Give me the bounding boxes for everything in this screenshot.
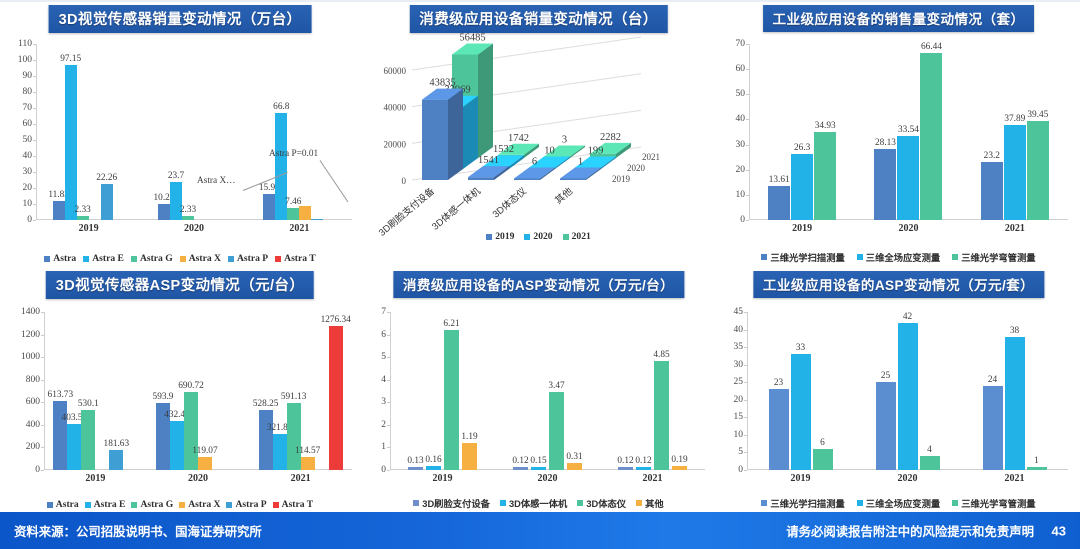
x-axis-label: 2021: [291, 473, 311, 484]
bar-group: 28.1333.5466.442020: [855, 44, 961, 220]
bar-value-label: 24: [988, 375, 997, 385]
svg-text:2282: 2282: [600, 132, 621, 143]
bar-group: 593.9432.43690.72119.072020: [147, 312, 250, 470]
legend-swatch-icon: [577, 500, 583, 506]
y-tick-label: 5: [381, 352, 386, 362]
y-tick-mark: [41, 470, 44, 471]
bar-group: 23.237.8939.452021: [962, 44, 1068, 220]
bar[interactable]: 591.13: [287, 403, 301, 470]
bar[interactable]: 33.54: [897, 136, 919, 220]
legend-industrial-volume: 三维光学扫描测量三维全场应变测量三维光学弯管测量: [717, 250, 1080, 264]
bar-group: 10.2823.72.332020: [141, 44, 246, 220]
y-tick-label: 2: [381, 420, 386, 430]
x-axis-label: 2019: [79, 223, 99, 234]
bar[interactable]: 432.43: [170, 421, 184, 470]
bar[interactable]: 0.19: [672, 466, 687, 470]
bar-value-label: 4: [927, 445, 932, 455]
y-tick-mark: [387, 470, 390, 471]
chart-title-sensor-asp: 3D视觉传感器ASP变动情况（元/台）: [46, 271, 314, 299]
bar[interactable]: 613.73: [53, 401, 67, 470]
legend-item[interactable]: 2020: [524, 231, 552, 242]
bar[interactable]: 2.33: [77, 216, 89, 220]
bar[interactable]: 321.81: [273, 434, 287, 470]
svg-text:1742: 1742: [508, 133, 529, 144]
chart-title-industrial-asp: 工业级应用设备的ASP变动情况（万元/套）: [753, 271, 1044, 298]
y-tick-mark: [746, 220, 749, 221]
legend-item[interactable]: 三维光学弯管测量: [952, 496, 1035, 510]
bar-value-label: 0.16: [425, 455, 441, 465]
bar[interactable]: 34.93: [814, 132, 836, 220]
panel-sensor-volume: 3D视觉传感器销量变动情况（万台） 0102030405060708090100…: [0, 0, 360, 266]
y-tick-label: 800: [26, 375, 40, 385]
bar-groups: 0.130.166.211.1920190.120.153.470.312020…: [390, 312, 705, 470]
y-tick-mark: [744, 470, 747, 471]
x-axis-label: 2021: [289, 223, 309, 234]
bar-value-label: 690.72: [178, 381, 204, 391]
chart-consumer-asp: 01234567 0.130.166.211.1920190.120.153.4…: [360, 296, 717, 512]
bar-value-label: 2.33: [75, 205, 91, 215]
bar-value-label: 0.31: [566, 452, 582, 462]
y-tick-label: 0: [27, 215, 32, 225]
svg-text:20000: 20000: [384, 139, 407, 149]
legend-label: 三维光学弯管测量: [961, 250, 1035, 264]
bar-value-label: 39.45: [1027, 110, 1048, 120]
legend-item[interactable]: 3D体感一体机: [500, 496, 567, 510]
svg-text:3D体态仪: 3D体态仪: [490, 185, 529, 221]
legend-item[interactable]: Astra E: [85, 499, 126, 510]
bar-value-label: 0.12: [635, 456, 651, 466]
legend-item[interactable]: Astra X: [180, 253, 221, 264]
bar[interactable]: 114.57: [301, 457, 315, 470]
bar-value-label: 38: [1010, 326, 1019, 336]
chart-title-consumer-asp: 消费级应用设备的ASP变动情况（万元/台）: [393, 271, 684, 298]
legend-label: 三维光学弯管测量: [961, 496, 1035, 510]
bar[interactable]: 1.19: [462, 443, 477, 470]
annotation-astra-x: Astra X…: [197, 176, 235, 186]
svg-text:1532: 1532: [493, 144, 514, 155]
legend-item[interactable]: 三维全场应变测量: [857, 250, 940, 264]
svg-text:其他: 其他: [553, 185, 576, 207]
legend-swatch-icon: [636, 500, 642, 506]
legend-item[interactable]: Astra E: [83, 253, 124, 264]
svg-text:56485: 56485: [459, 32, 485, 43]
legend-swatch-icon: [761, 500, 767, 506]
slide: 3D视觉传感器销量变动情况（万台） 0102030405060708090100…: [0, 0, 1080, 549]
bar-value-label: 613.73: [48, 390, 74, 400]
footer-bar: 资料来源：公司招股说明书、国海证券研究所 请务必阅读报告附注中的风险提示和免责声…: [0, 512, 1080, 549]
y-tick-label: 40: [736, 114, 746, 124]
y-tick-label: 90: [23, 71, 33, 81]
bar[interactable]: 6: [813, 449, 833, 470]
legend-item[interactable]: Astra G: [131, 253, 173, 264]
y-tick-label: 30: [734, 360, 744, 370]
panel-consumer-asp: 消费级应用设备的ASP变动情况（万元/台） 01234567 0.130.166…: [360, 266, 717, 512]
legend-item[interactable]: Astra P: [228, 253, 268, 264]
legend-swatch-icon: [857, 254, 863, 260]
bar-group: 528.25321.81591.13114.571276.342021: [249, 312, 352, 470]
bar[interactable]: 0.31: [567, 463, 582, 470]
panel-sensor-asp: 3D视觉传感器ASP变动情况（元/台） 02004006008001000120…: [0, 266, 360, 512]
svg-text:60000: 60000: [384, 66, 407, 76]
chart-industrial-asp: 051015202530354045 233362019254242020243…: [717, 296, 1080, 512]
bar[interactable]: 690.72: [184, 392, 198, 470]
y-tick-label: 30: [23, 167, 33, 177]
legend-swatch-icon: [413, 500, 419, 506]
y-tick-label: 30: [736, 140, 746, 150]
bar[interactable]: 0.15: [531, 467, 546, 470]
bar-value-label: 28.13: [875, 138, 896, 148]
legend-label: Astra: [53, 253, 76, 264]
bar-group: 233362019: [747, 312, 854, 470]
legend-label: Astra X: [189, 253, 221, 264]
x-axis-label: 2020: [538, 473, 558, 484]
y-tick-label: 60: [736, 64, 746, 74]
legend-item[interactable]: 三维光学弯管测量: [952, 250, 1035, 264]
legend-swatch-icon: [761, 254, 767, 260]
y-tick-label: 20: [734, 395, 744, 405]
legend-label: 3D刷脸支付设备: [422, 496, 490, 510]
chart-title-industrial-volume: 工业级应用设备的销售量变动情况（套）: [763, 5, 1035, 32]
legend-label: 3D体感一体机: [509, 496, 567, 510]
legend-label: Astra E: [94, 499, 126, 510]
y-tick-label: 0: [740, 215, 745, 225]
svg-text:10: 10: [544, 146, 555, 157]
svg-text:199: 199: [588, 146, 604, 157]
y-tick-label: 0: [738, 465, 743, 475]
legend-label: 2021: [572, 231, 591, 242]
legend-swatch-icon: [44, 256, 50, 262]
y-tick-label: 3: [381, 397, 386, 407]
bar[interactable]: 181.63: [109, 450, 123, 470]
y-tick-label: 40: [734, 325, 744, 335]
y-tick-label: 0: [35, 465, 40, 475]
legend-item[interactable]: Astra T: [273, 499, 314, 510]
x-axis-label: 2020: [898, 473, 918, 484]
bar-value-label: 181.63: [104, 439, 130, 449]
chart-grid: 3D视觉传感器销量变动情况（万台） 0102030405060708090100…: [0, 0, 1080, 512]
y-tick-label: 100: [18, 55, 32, 65]
y-tick-label: 60: [23, 119, 33, 129]
svg-text:3D体感一体机: 3D体感一体机: [430, 185, 484, 233]
legend-label: 三维全场应变测量: [866, 496, 940, 510]
legend-label: Astra G: [140, 253, 173, 264]
legend-swatch-icon: [563, 234, 569, 240]
bar[interactable]: 403.51: [67, 424, 81, 470]
bar[interactable]: 0.12: [618, 467, 633, 470]
legend-item[interactable]: Astra P: [226, 499, 266, 510]
bar-value-label: 1: [1034, 456, 1039, 466]
bar[interactable]: 22.26: [101, 184, 113, 220]
chart-sensor-volume: 0102030405060708090100110 11.8397.152.33…: [0, 30, 360, 266]
y-tick-label: 40: [23, 151, 33, 161]
legend-item[interactable]: 三维光学扫描测量: [761, 250, 844, 264]
bar-value-label: 0.13: [407, 456, 423, 466]
x-axis-label: 2019: [792, 223, 812, 234]
chart-sensor-asp: 0200400600800100012001400 613.73403.5153…: [0, 296, 360, 512]
legend-sensor-asp: AstraAstra EAstra GAstra XAstra PAstra T: [0, 499, 360, 510]
bar-groups: 11.8397.152.3322.26201910.2823.72.332020…: [36, 44, 352, 220]
bar-value-label: 22.26: [96, 173, 117, 183]
legend-swatch-icon: [486, 234, 492, 240]
legend-swatch-icon: [179, 502, 185, 508]
bar-value-label: 1.19: [461, 432, 477, 442]
legend-swatch-icon: [180, 256, 186, 262]
bar[interactable]: [311, 219, 323, 220]
bar[interactable]: 25: [876, 382, 896, 470]
legend-item[interactable]: 三维全场应变测量: [857, 496, 940, 510]
bar[interactable]: 10.28: [158, 204, 170, 220]
annotation-astra-p: Astra P=0.01: [269, 149, 318, 159]
bar[interactable]: [299, 206, 311, 220]
legend-swatch-icon: [275, 256, 281, 262]
bar-group: 0.120.153.470.312020: [495, 312, 600, 470]
y-tick-label: 25: [734, 377, 744, 387]
bar[interactable]: 119.07: [198, 457, 212, 470]
legend-label: Astra G: [140, 499, 173, 510]
legend-label: 2020: [533, 231, 552, 242]
bar-value-label: 530.1: [78, 399, 99, 409]
legend-item[interactable]: Astra: [47, 499, 79, 510]
legend-label: 三维光学扫描测量: [770, 496, 844, 510]
panel-industrial-asp: 工业级应用设备的ASP变动情况（万元/套） 051015202530354045…: [717, 266, 1080, 512]
bar-value-label: 6: [820, 438, 825, 448]
y-tick-label: 5: [738, 447, 743, 457]
svg-text:40000: 40000: [384, 103, 407, 113]
x-axis-label: 2021: [1005, 223, 1025, 234]
legend-swatch-icon: [273, 502, 279, 508]
bar[interactable]: 528.25: [259, 410, 273, 470]
legend-consumer-asp: 3D刷脸支付设备3D体感一体机3D体态仪其他: [360, 496, 717, 510]
bar-groups: 13.6126.334.93201928.1333.5466.44202023.…: [749, 44, 1068, 220]
bar-value-label: 23: [774, 378, 783, 388]
bar-value-label: 2.33: [180, 205, 196, 215]
y-tick-label: 7: [381, 307, 386, 317]
bar-value-label: 66.44: [921, 42, 942, 52]
footer-source: 资料来源：公司招股说明书、国海证券研究所: [14, 522, 262, 540]
bar-value-label: 591.13: [281, 392, 307, 402]
bar-value-label: 33: [796, 343, 805, 353]
y-tick-label: 50: [736, 89, 746, 99]
legend-label: Astra: [56, 499, 79, 510]
bar-value-label: 6.21: [443, 319, 459, 329]
bar-value-label: 3.47: [548, 381, 564, 391]
legend-item[interactable]: 其他: [636, 496, 664, 510]
legend-label: Astra T: [284, 253, 316, 264]
bar[interactable]: 39.45: [1027, 121, 1049, 220]
bar-group: 613.73403.51530.1181.632019: [44, 312, 147, 470]
legend-label: 3D体态仪: [586, 496, 626, 510]
legend-swatch-icon: [226, 502, 232, 508]
legend-item[interactable]: Astra X: [179, 499, 220, 510]
legend-swatch-icon: [131, 256, 137, 262]
legend-item[interactable]: 三维光学扫描测量: [761, 496, 844, 510]
bar-value-label: 0.15: [530, 456, 546, 466]
legend-swatch-icon: [500, 500, 506, 506]
bar-value-label: 34.93: [815, 121, 836, 131]
legend-swatch-icon: [83, 256, 89, 262]
legend-industrial-asp: 三维光学扫描测量三维全场应变测量三维光学弯管测量: [717, 496, 1080, 510]
svg-text:1: 1: [578, 157, 583, 168]
y-tick-label: 15: [734, 412, 744, 422]
page-number: 43: [1052, 523, 1066, 538]
legend-label: 2019: [495, 231, 514, 242]
legend-label: 其他: [645, 496, 664, 510]
bar-value-label: 4.85: [653, 350, 669, 360]
y-tick-label: 20: [736, 165, 746, 175]
y-tick-label: 200: [26, 442, 40, 452]
bar-group: 243812021: [961, 312, 1068, 470]
bar-group: 0.130.166.211.192019: [390, 312, 495, 470]
bar[interactable]: 24: [983, 386, 1003, 470]
legend-label: Astra P: [237, 253, 268, 264]
bar[interactable]: 97.15: [65, 65, 77, 220]
bar-value-label: 119.07: [192, 446, 217, 456]
y-tick-label: 45: [734, 307, 744, 317]
bar-value-label: 0.12: [617, 456, 633, 466]
legend-item[interactable]: Astra T: [275, 253, 316, 264]
legend-swatch-icon: [524, 234, 530, 240]
legend-sensor-volume: AstraAstra EAstra GAstra XAstra PAstra T: [0, 253, 360, 264]
bar-value-label: 1276.34: [321, 315, 351, 325]
x-axis-label: 2021: [1005, 473, 1025, 484]
x-axis-label: 2020: [898, 223, 918, 234]
bar[interactable]: 38: [1005, 337, 1025, 470]
y-tick-label: 20: [23, 183, 33, 193]
bar[interactable]: 3.47: [549, 392, 564, 470]
svg-text:2020: 2020: [627, 163, 646, 173]
y-tick-label: 1000: [21, 352, 40, 362]
legend-label: Astra X: [188, 499, 220, 510]
y-tick-label: 4: [381, 375, 386, 385]
y-tick-label: 0: [381, 465, 386, 475]
three-d-column-chart: 0200004000060000201920202021564851742322…: [360, 28, 717, 246]
bar[interactable]: 23.2: [981, 162, 1003, 220]
bar[interactable]: 37.89: [1004, 125, 1026, 220]
svg-text:43835: 43835: [429, 78, 455, 89]
y-tick-label: 110: [18, 39, 32, 49]
legend-item[interactable]: 3D刷脸支付设备: [413, 496, 490, 510]
bar[interactable]: 23: [769, 389, 789, 470]
legend-label: 三维全场应变测量: [866, 250, 940, 264]
legend-swatch-icon: [228, 256, 234, 262]
bar-value-label: 0.19: [671, 455, 687, 465]
svg-text:1541: 1541: [478, 155, 499, 166]
bar-group: 15.9566.87.462021: [247, 44, 352, 220]
panel-industrial-volume: 工业级应用设备的销售量变动情况（套） 010203040506070 13.61…: [717, 0, 1080, 266]
y-tick-label: 1: [381, 442, 386, 452]
bar[interactable]: 28.13: [874, 149, 896, 220]
svg-text:2021: 2021: [642, 152, 660, 162]
x-axis-label: 2020: [184, 223, 204, 234]
svg-text:2019: 2019: [612, 174, 631, 184]
bar-group: 254242020: [854, 312, 961, 470]
bar[interactable]: 0.12: [636, 467, 651, 470]
legend-label: Astra E: [92, 253, 124, 264]
bar[interactable]: 15.95: [263, 194, 275, 220]
bar[interactable]: 66.44: [920, 53, 942, 220]
x-axis-label: 2019: [85, 473, 105, 484]
legend-item[interactable]: 2021: [563, 231, 591, 242]
legend-swatch-icon: [131, 502, 137, 508]
y-tick-label: 70: [736, 39, 746, 49]
x-axis-label: 2019: [791, 473, 811, 484]
bar[interactable]: 0.13: [408, 467, 423, 470]
bar-groups: 613.73403.51530.1181.632019593.9432.4369…: [44, 312, 352, 470]
bar-value-label: 23.2: [984, 151, 1000, 161]
x-axis-label: 2021: [643, 473, 663, 484]
bar-value-label: 593.9: [153, 392, 174, 402]
bar[interactable]: 0.16: [426, 466, 441, 470]
bar[interactable]: 4.85: [654, 361, 669, 470]
svg-text:3: 3: [562, 135, 567, 146]
bar[interactable]: 0.12: [513, 467, 528, 470]
y-tick-label: 35: [734, 342, 744, 352]
y-tick-label: 10: [734, 430, 744, 440]
bar-value-label: 114.57: [295, 446, 320, 456]
y-tick-label: 10: [23, 199, 33, 209]
legend-swatch-icon: [47, 502, 53, 508]
bar[interactable]: 33: [791, 354, 811, 470]
svg-text:6: 6: [532, 157, 537, 168]
panel-consumer-volume: 消费级应用设备销量变动情况（台） 02000040000600002019202…: [360, 0, 717, 266]
y-tick-label: 400: [26, 420, 40, 430]
x-axis-label: 2020: [188, 473, 208, 484]
bar[interactable]: 26.3: [791, 154, 813, 220]
bar-value-label: 528.25: [253, 399, 279, 409]
y-tick-label: 600: [26, 397, 40, 407]
legend-label: Astra P: [235, 499, 266, 510]
bar-value-label: 97.15: [60, 54, 81, 64]
legend-swatch-icon: [85, 502, 91, 508]
bar-value-label: 13.61: [769, 175, 790, 185]
bar[interactable]: 1276.34: [329, 326, 343, 470]
bar-value-label: 25: [881, 371, 890, 381]
bar[interactable]: 7.46: [287, 208, 299, 220]
bar[interactable]: 2.33: [182, 216, 194, 220]
bar-value-label: 23.7: [168, 171, 184, 181]
bar-value-label: 37.89: [1004, 114, 1025, 124]
bar[interactable]: 6.21: [444, 330, 459, 470]
legend-item[interactable]: Astra: [44, 253, 76, 264]
svg-text:0: 0: [402, 176, 407, 186]
chart-industrial-volume: 010203040506070 13.6126.334.93201928.133…: [717, 30, 1080, 266]
bar[interactable]: 1: [1027, 467, 1047, 471]
bar-value-label: 33.54: [898, 125, 919, 135]
legend-item[interactable]: 3D体态仪: [577, 496, 626, 510]
bar[interactable]: 13.61: [768, 186, 790, 220]
y-tick-label: 70: [23, 103, 33, 113]
bar-groups: 233362019254242020243812021: [747, 312, 1068, 470]
bar[interactable]: 530.1: [81, 410, 95, 470]
y-tick-label: 50: [23, 135, 33, 145]
bar[interactable]: 11.83: [53, 201, 65, 220]
bar-group: 0.120.124.850.192021: [600, 312, 705, 470]
y-tick-mark: [33, 220, 36, 221]
bar-group: 13.6126.334.932019: [749, 44, 855, 220]
footer-disclaimer: 请务必阅读报告附注中的风险提示和免责声明: [786, 522, 1034, 540]
bar-value-label: 0.12: [512, 456, 528, 466]
legend-item[interactable]: 2019: [486, 231, 514, 242]
bar[interactable]: 4: [920, 456, 940, 470]
bar-value-label: 66.8: [273, 102, 289, 112]
legend-label: 三维光学扫描测量: [770, 250, 844, 264]
legend-label: Astra T: [282, 499, 314, 510]
legend-item[interactable]: Astra G: [131, 499, 173, 510]
y-tick-label: 1400: [21, 307, 40, 317]
y-tick-label: 6: [381, 330, 386, 340]
bar[interactable]: 42: [898, 323, 918, 470]
chart-consumer-volume: 0200004000060000201920202021564851742322…: [360, 28, 717, 266]
